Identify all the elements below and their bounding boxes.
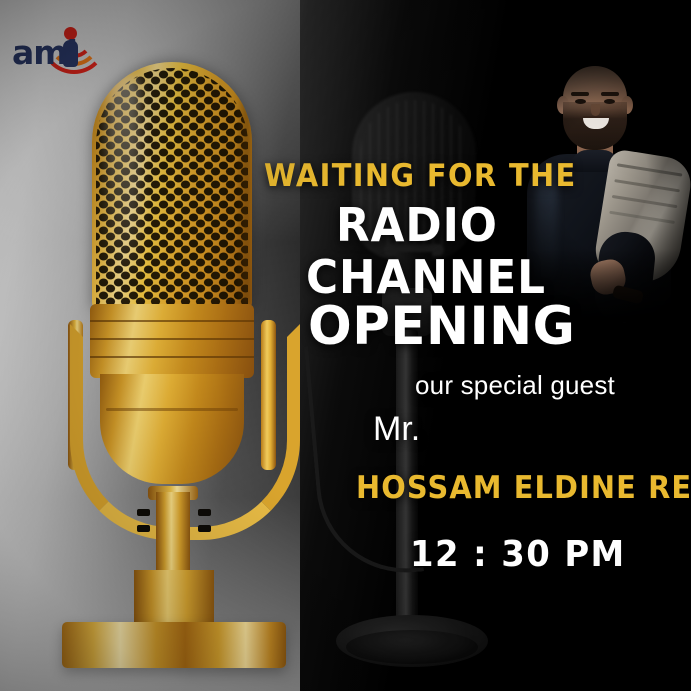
microphone-screw bbox=[137, 525, 150, 532]
microphone-screw bbox=[198, 509, 211, 516]
microphone-screw bbox=[198, 525, 211, 532]
logo-wordmark: ami bbox=[12, 36, 77, 69]
guest-name: HOSSAM ELDINE REDA bbox=[356, 470, 691, 506]
radio-channel-opening-poster: ami WAITING FOR THE RADIO CHANNEL OPENIN… bbox=[0, 0, 691, 691]
guest-title-label: Mr. bbox=[373, 410, 420, 449]
headline-line-opening: OPENING bbox=[308, 296, 575, 357]
microphone-head bbox=[92, 62, 252, 312]
poster-text-block: WAITING FOR THE RADIO CHANNEL OPENING ou… bbox=[240, 0, 691, 691]
guest-intro-label: our special guest bbox=[415, 370, 615, 401]
microphone-screw bbox=[137, 509, 150, 516]
microphone-neck bbox=[156, 492, 190, 572]
event-time: 12 : 30 PM bbox=[410, 534, 626, 575]
headline-line-waiting-for-the: WAITING FOR THE bbox=[264, 158, 577, 194]
ami-logo[interactable]: ami bbox=[10, 12, 102, 76]
headline-line-radio: RADIO bbox=[336, 198, 498, 252]
microphone-head-highlight bbox=[106, 72, 140, 282]
collar-line bbox=[90, 320, 254, 322]
microphone-base-column bbox=[134, 570, 214, 626]
